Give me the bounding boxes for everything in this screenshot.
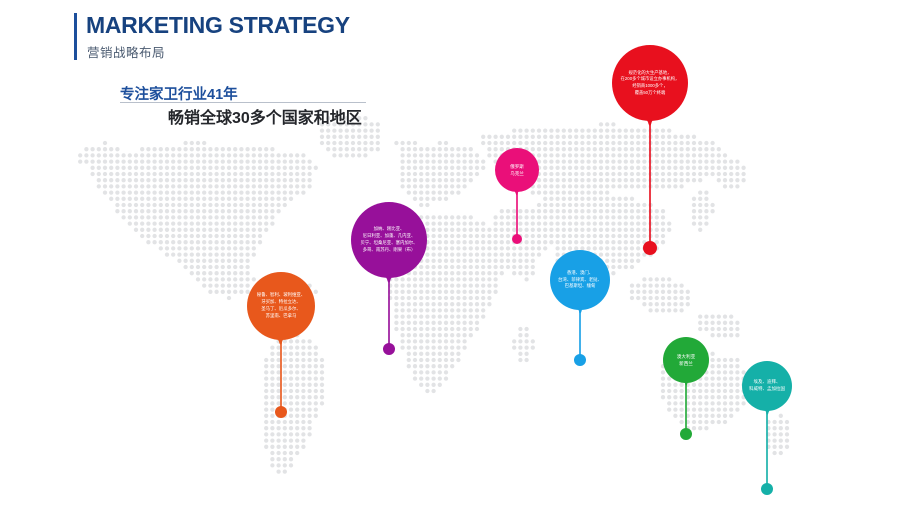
pin-bubble[interactable]: 俄罗斯 乌克兰 (495, 148, 539, 192)
page-subtitle: 营销战略布局 (87, 42, 165, 61)
pin-label: 俄罗斯 乌克兰 (506, 163, 528, 177)
world-map-dotted (0, 0, 900, 510)
pin-anchor-dot[interactable] (761, 483, 773, 495)
pin-anchor-dot[interactable] (275, 406, 287, 418)
pin-label: 规范化的大生产基地， 在200多个城市设立办事机构， 经销商1000多个， 覆盖… (617, 70, 684, 97)
pin-anchor-dot[interactable] (383, 343, 395, 355)
pin-bubble[interactable]: 埃及、迪拜、 科威特、孟加拉国 (742, 361, 792, 411)
pin-anchor-dot[interactable] (643, 241, 657, 255)
pin-bubble[interactable]: 澳大利亚 新西兰 (663, 337, 709, 383)
pin-label: 澳大利亚 新西兰 (673, 353, 699, 367)
pin-anchor-dot[interactable] (512, 234, 522, 244)
pin-label: 埃及、迪拜、 科威特、孟加拉国 (745, 379, 789, 393)
pin-label: 加纳、刚比亚、 尼日利亚、加蓬、几内亚、 贝宁、坦桑尼亚、塞内加尔、 多哥、南苏… (356, 226, 421, 253)
header-accent-bar (74, 13, 77, 60)
pin-label: 秘鲁、智利、玻利维亚、 牙买加、特拉立达、 圣马丁、厄瓜多尔、 苏里南、巴拿马 (253, 292, 309, 319)
pin-bubble[interactable]: 加纳、刚比亚、 尼日利亚、加蓬、几内亚、 贝宁、坦桑尼亚、塞内加尔、 多哥、南苏… (351, 202, 427, 278)
pin-bubble[interactable]: 秘鲁、智利、玻利维亚、 牙买加、特拉立达、 圣马丁、厄瓜多尔、 苏里南、巴拿马 (247, 272, 315, 340)
page-title: MARKETING STRATEGY (86, 12, 350, 39)
pin-bubble[interactable]: 规范化的大生产基地， 在200多个城市设立办事机构， 经销商1000多个， 覆盖… (612, 45, 688, 121)
claim-divider (120, 102, 366, 103)
pin-anchor-dot[interactable] (680, 428, 692, 440)
claim-primary: 专注家卫行业41年 (120, 83, 238, 104)
claim-secondary: 畅销全球30多个国家和地区 (168, 104, 362, 128)
pin-bubble[interactable]: 香港、澳门、 台湾、菲律宾、老挝、 巴基斯坦、缅甸 (550, 250, 610, 310)
slide-canvas: MARKETING STRATEGY 营销战略布局 专注家卫行业41年 畅销全球… (0, 0, 900, 510)
pin-label: 香港、澳门、 台湾、菲律宾、老挝、 巴基斯坦、缅甸 (554, 270, 606, 290)
pin-anchor-dot[interactable] (574, 354, 586, 366)
